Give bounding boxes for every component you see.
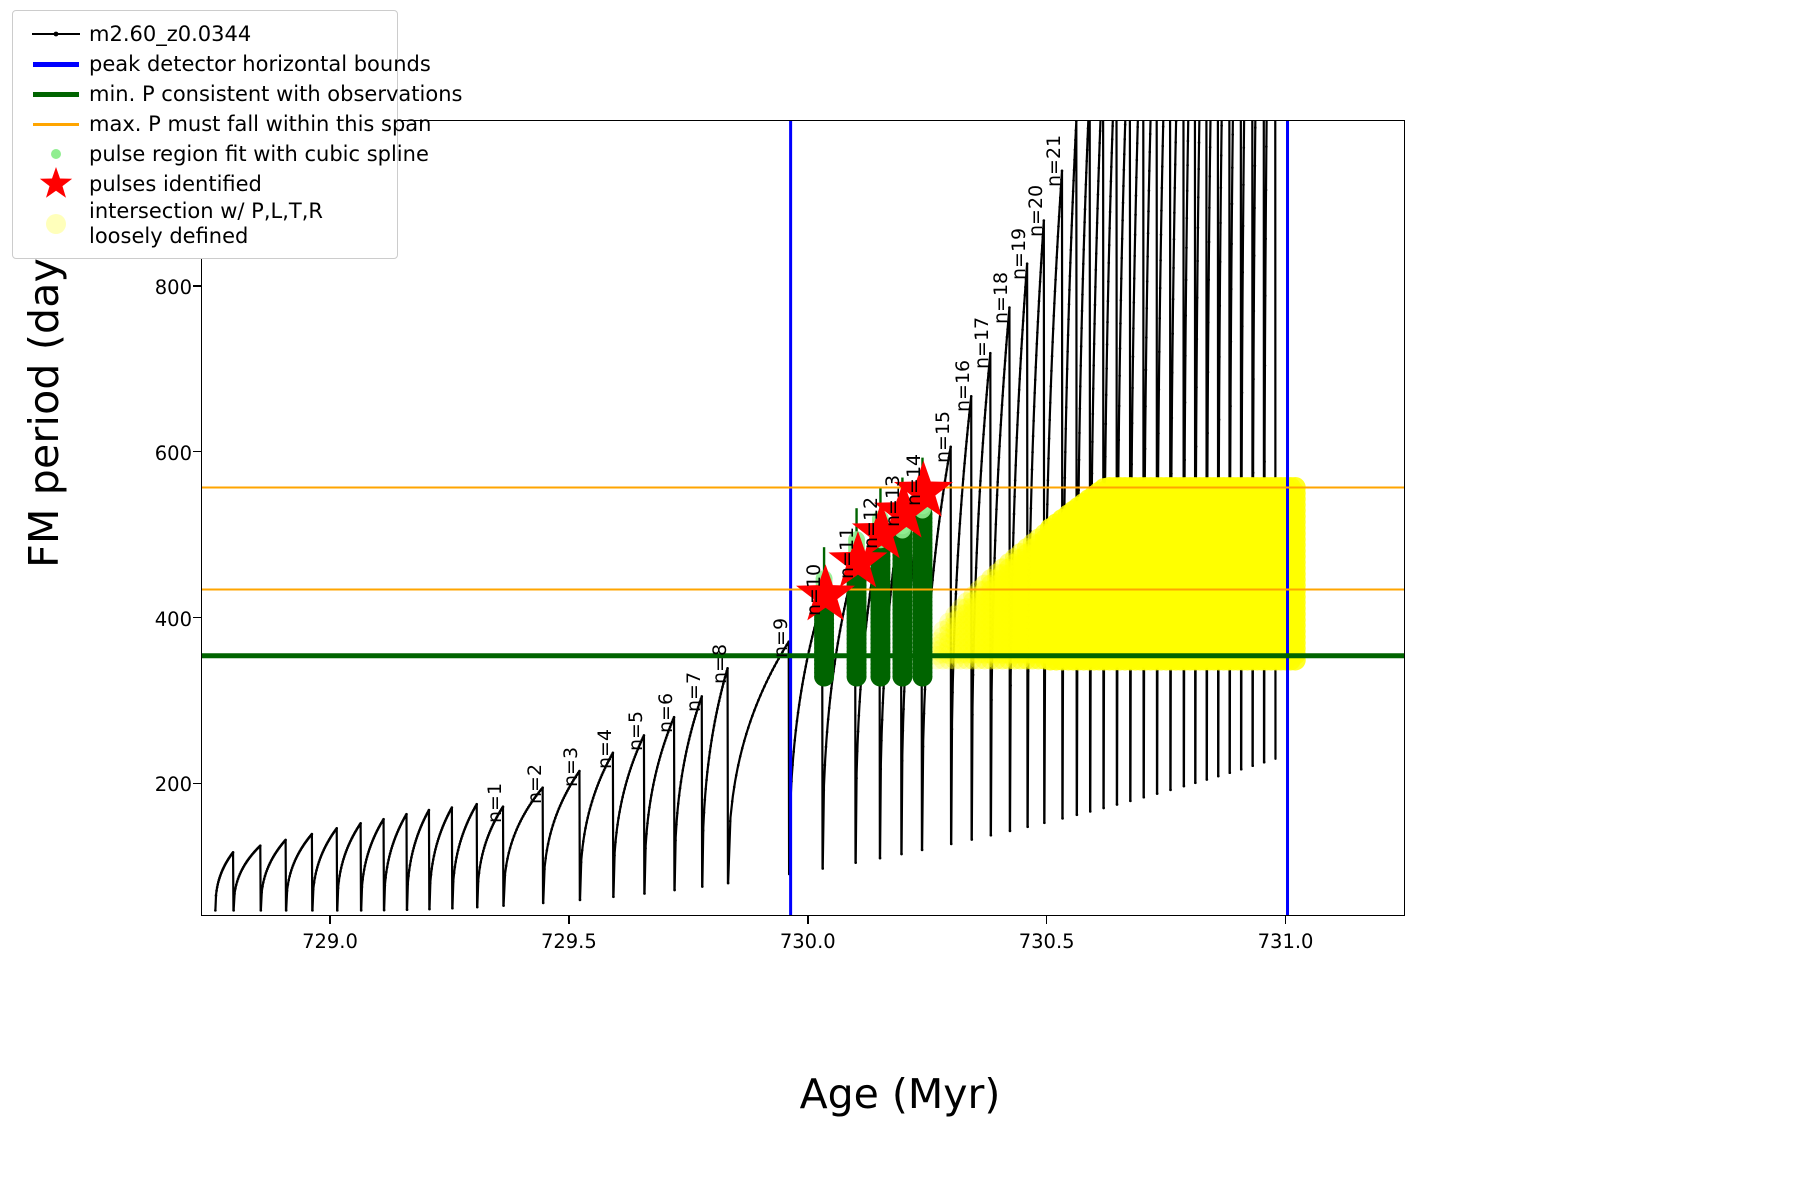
star-shape-icon — [40, 167, 72, 198]
x-tick-label: 729.0 — [260, 930, 400, 953]
pulse-index-label: n=17 — [971, 317, 993, 369]
legend-item[interactable]: pulse region fit with cubic spline — [23, 139, 387, 169]
figure-root: 2004006008001000 FM period (days) n=1n=2… — [0, 0, 1800, 1200]
pulse-index-label: n=8 — [709, 644, 731, 684]
legend-item[interactable]: m2.60_z0.0344 — [23, 19, 387, 49]
y-tick-mark — [193, 285, 201, 287]
pulse-index-label: n=5 — [625, 711, 647, 751]
pulse-index-label: n=20 — [1025, 184, 1047, 236]
legend-item-label: peak detector horizontal bounds — [89, 52, 431, 77]
y-tick-label: 800 — [72, 276, 192, 299]
x-tick-mark — [807, 916, 809, 924]
pulse-index-label: n=21 — [1043, 135, 1065, 187]
y-tick-mark — [193, 617, 201, 619]
x-tick-mark — [329, 916, 331, 924]
pulse-index-label: n=7 — [683, 672, 705, 712]
pulse-index-label: n=12 — [860, 497, 882, 549]
pulse-index-label: n=14 — [903, 454, 925, 506]
x-tick-label: 731.0 — [1216, 930, 1356, 953]
legend[interactable]: m2.60_z0.0344peak detector horizontal bo… — [12, 10, 398, 259]
legend-line-green-icon — [23, 79, 89, 109]
y-tick-label: 400 — [72, 608, 192, 631]
pulse-index-label: n=4 — [594, 729, 616, 769]
pulse-index-label: n=10 — [803, 564, 825, 616]
x-tick-label: 729.5 — [499, 930, 639, 953]
legend-item-label: intersection w/ P,L,T,Rloosely defined — [89, 199, 323, 249]
legend-line-black-icon — [23, 19, 89, 49]
y-tick-mark — [193, 783, 201, 785]
x-tick-label: 730.0 — [738, 930, 878, 953]
marker-dot-icon — [54, 32, 59, 37]
pulse-index-label: n=9 — [770, 618, 792, 658]
legend-item-label: max. P must fall within this span — [89, 112, 431, 137]
line-orange-icon — [33, 123, 79, 126]
x-axis-label: Age (Myr) — [0, 1070, 1800, 1118]
y-tick-label: 200 — [72, 773, 192, 796]
y-tick-mark — [193, 451, 201, 453]
legend-item[interactable]: peak detector horizontal bounds — [23, 49, 387, 79]
legend-line-orange-icon — [23, 109, 89, 139]
legend-item-label: min. P consistent with observations — [89, 82, 462, 107]
dot-lightyellow-icon — [46, 214, 66, 234]
pulse-index-label: n=15 — [932, 411, 954, 463]
x-tick-label: 730.5 — [977, 930, 1117, 953]
pulse-index-label: n=11 — [836, 527, 858, 579]
pulse-index-label: n=1 — [484, 783, 506, 823]
x-tick-mark — [1285, 916, 1287, 924]
line-green-icon — [33, 92, 79, 97]
line-blue-icon — [33, 62, 79, 67]
pulse-index-label: n=6 — [655, 693, 677, 733]
legend-item-label: pulses identified — [89, 172, 262, 197]
legend-item[interactable]: max. P must fall within this span — [23, 109, 387, 139]
y-tick-label: 600 — [72, 442, 192, 465]
pulse-index-label: n=2 — [524, 764, 546, 804]
legend-item-label: m2.60_z0.0344 — [89, 22, 251, 47]
legend-item[interactable]: intersection w/ P,L,T,Rloosely defined — [23, 199, 387, 249]
legend-dot-lightyellow-icon — [23, 209, 89, 239]
star-icon — [29, 167, 83, 201]
pulse-index-label: n=13 — [882, 475, 904, 527]
pulse-index-label: n=3 — [560, 747, 582, 787]
legend-star-red-icon — [23, 169, 89, 199]
x-tick-mark — [568, 916, 570, 924]
legend-item[interactable]: min. P consistent with observations — [23, 79, 387, 109]
legend-line-blue-icon — [23, 49, 89, 79]
dot-lightgreen-icon — [51, 149, 61, 159]
x-tick-mark — [1046, 916, 1048, 924]
legend-dot-lightgreen-icon — [23, 139, 89, 169]
line-marker-icon — [30, 27, 82, 41]
legend-item-label: pulse region fit with cubic spline — [89, 142, 429, 167]
legend-item[interactable]: pulses identified — [23, 169, 387, 199]
